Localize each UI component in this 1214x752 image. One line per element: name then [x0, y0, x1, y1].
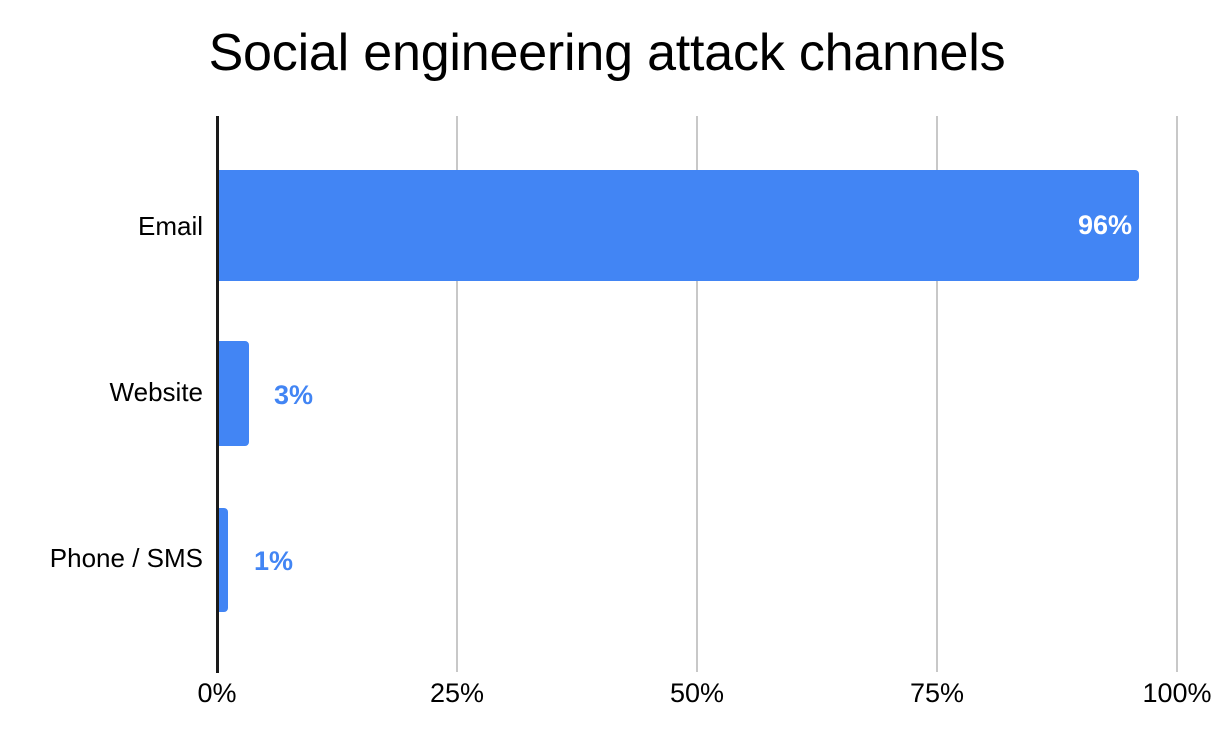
bar-chart: Social engineering attack channels 96% 3…: [0, 0, 1214, 752]
gridline-100: [1176, 116, 1178, 672]
category-label-phone-sms: Phone / SMS: [50, 543, 203, 573]
xtick-label-100: 100%: [1097, 676, 1214, 710]
xtick-label-25: 25%: [377, 676, 537, 710]
value-label-phone-sms: 1%: [254, 548, 293, 575]
chart-title: Social engineering attack channels: [0, 22, 1214, 84]
xtick-label-50: 50%: [617, 676, 777, 710]
plot-area: 96% 3% 1%: [217, 116, 1177, 672]
y-axis-line: [216, 116, 219, 673]
xtick-label-0: 0%: [137, 676, 297, 710]
bar-email[interactable]: [217, 170, 1139, 281]
category-label-website: Website: [110, 377, 203, 407]
bar-website[interactable]: [217, 341, 249, 446]
value-label-website: 3%: [274, 382, 313, 409]
xtick-label-75: 75%: [857, 676, 1017, 710]
value-label-email: 96%: [1078, 212, 1132, 239]
category-label-email: Email: [138, 211, 203, 241]
